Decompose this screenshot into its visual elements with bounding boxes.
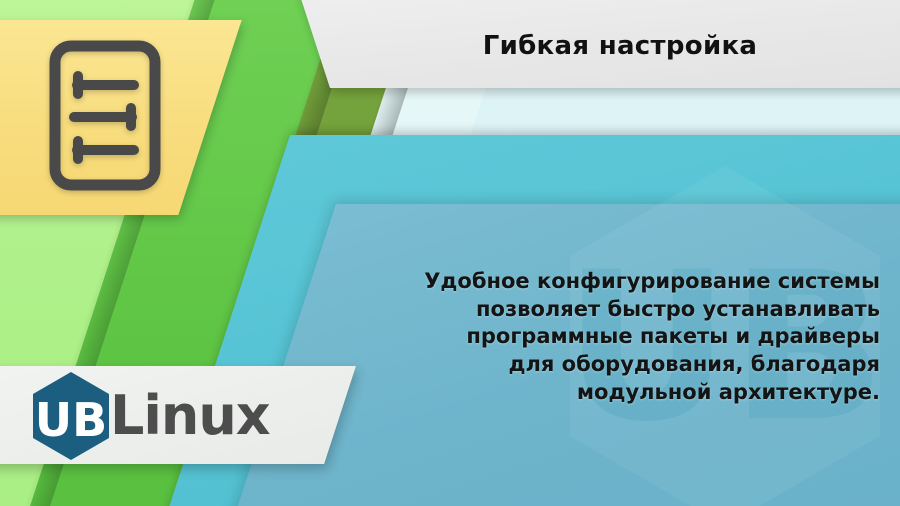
slide-canvas: UB Гибкая настройка Удобное конфигуриров… [0, 0, 900, 506]
settings-sliders-icon [46, 38, 164, 193]
page-title: Гибкая настройка [360, 18, 880, 74]
body-text: Удобное конфигурирование системы позволя… [420, 268, 880, 407]
logo-wordmark: Linux [110, 389, 270, 443]
svg-text:UB: UB [35, 393, 107, 447]
brand-logo: UB Linux [30, 370, 270, 462]
ub-hexagon-icon: UB [30, 370, 112, 462]
